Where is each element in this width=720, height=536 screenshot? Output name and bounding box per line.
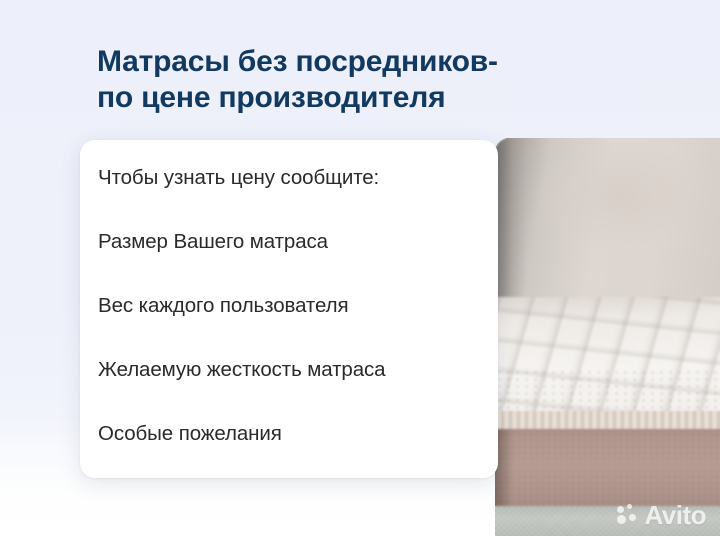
list-item: Вес каждого пользователя: [98, 294, 498, 358]
page-title: Матрасы без посредников- по цене произво…: [97, 44, 567, 116]
photo-bed-base: [495, 506, 720, 536]
advertisement-canvas: Матрасы без посредников- по цене произво…: [0, 0, 720, 536]
mattress-photo: [495, 138, 720, 536]
info-card: Чтобы узнать цену сообщите: Размер Вашег…: [80, 140, 498, 478]
list-item: Особые пожелания: [98, 422, 498, 478]
list-item: Чтобы узнать цену сообщите:: [98, 166, 498, 230]
list-item: Желаемую жесткость матраса: [98, 358, 498, 422]
list-item: Размер Вашего матраса: [98, 230, 498, 294]
photo-edge-piping: [495, 411, 720, 429]
photo-mattress-side-panel: [495, 429, 720, 513]
requirements-list: Чтобы узнать цену сообщите: Размер Вашег…: [98, 166, 498, 478]
